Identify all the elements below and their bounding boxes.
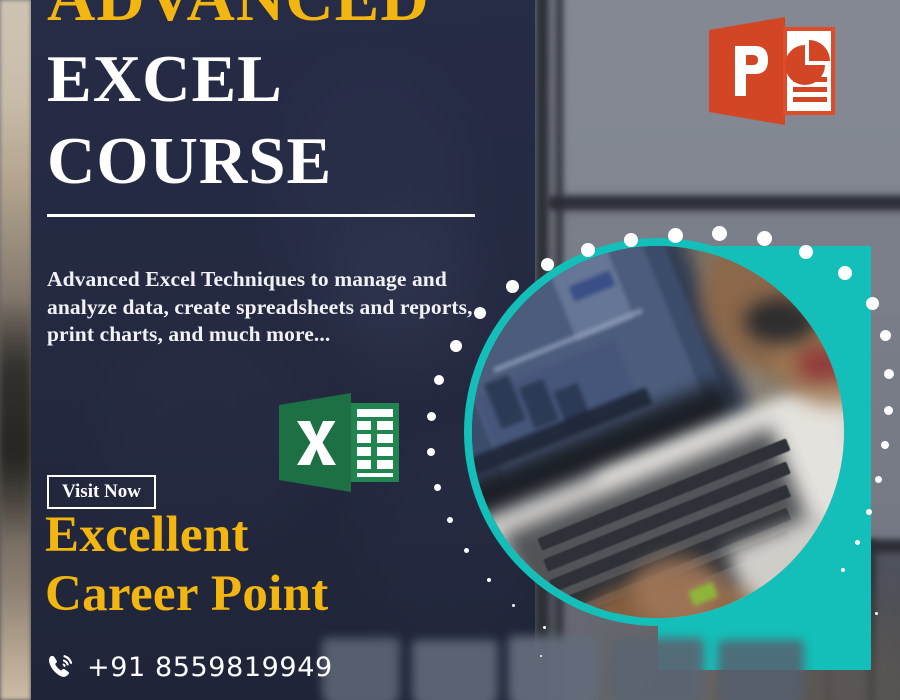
brand-name: Excellent Career Point [45,506,505,624]
microsoft-powerpoint-logo [705,14,838,128]
contact-phone[interactable]: +91 8559819949 [45,652,333,682]
brand-line-2: Career Point [45,565,505,624]
phone-call-icon [45,652,75,682]
course-description: Advanced Excel Techniques to manage and … [47,266,487,349]
brand-line-1: Excellent [45,506,505,565]
visit-now-button[interactable]: Visit Now [47,475,156,509]
headline-line-3: COURSE [47,129,517,193]
headline-block: ADVANCED EXCEL COURSE [47,0,517,210]
laptop-user-photo [472,246,844,618]
headline-line-2: EXCEL [47,47,517,111]
headline-line-1: ADVANCED [47,0,517,30]
headline-divider [47,214,475,217]
promotional-poster: ADVANCED EXCEL COURSE Advanced Excel Tec… [0,0,900,700]
left-edge-shadow [0,300,31,540]
microsoft-excel-logo [277,391,401,494]
phone-number: +91 8559819949 [87,654,333,681]
